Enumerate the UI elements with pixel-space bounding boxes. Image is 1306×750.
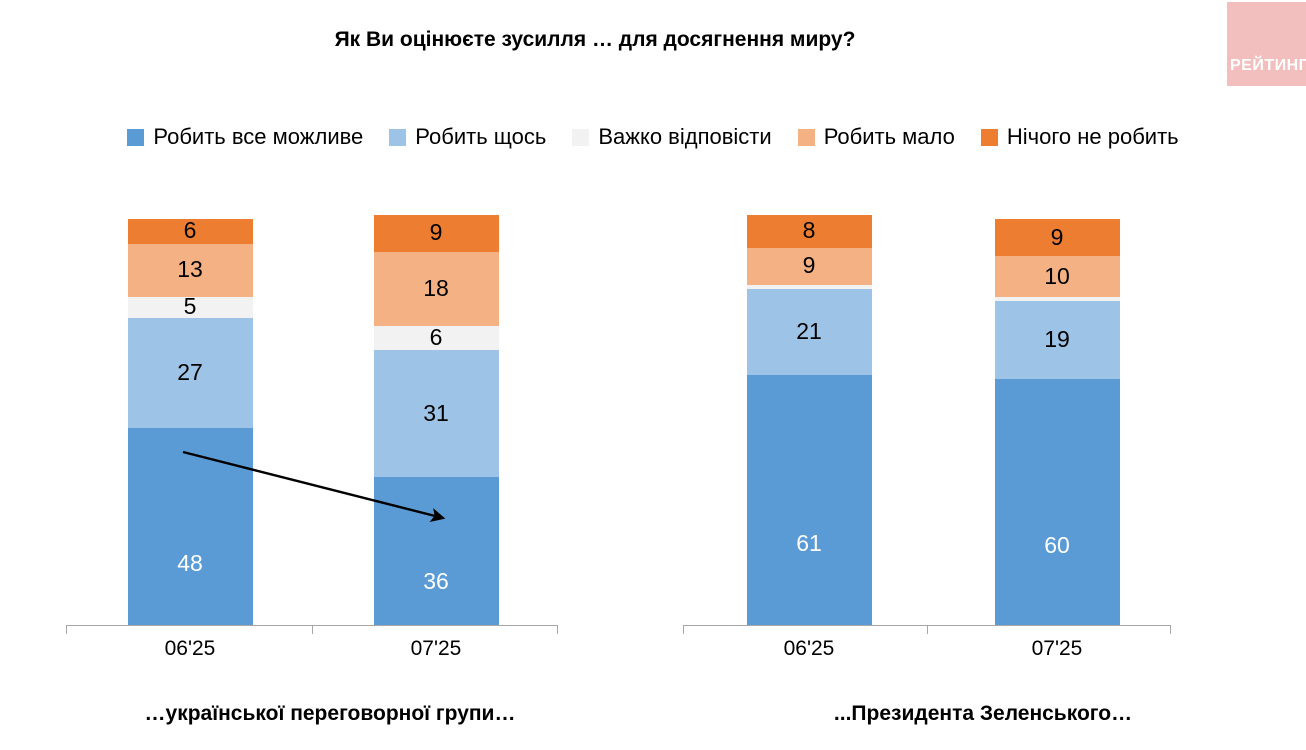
bar-segment-value-label: 48	[128, 552, 253, 575]
panel-caption-right: ...Президента Зеленського…	[660, 702, 1306, 726]
x-axis-category-label: 07'25	[997, 637, 1117, 661]
x-axis-category-label: 07'25	[376, 637, 496, 661]
bar-segment-value-label: 19	[995, 328, 1120, 351]
bar-segment[interactable]: 18	[374, 252, 499, 326]
bar-segment-value-label: 13	[128, 258, 253, 281]
stacked-bar[interactable]: 8912161	[747, 215, 872, 625]
bar-segment[interactable]: 9	[374, 215, 499, 252]
bar-segment[interactable]: 36	[374, 477, 499, 625]
x-axis-tick	[66, 625, 67, 634]
bar-segment[interactable]: 27	[128, 318, 253, 429]
stacked-bar[interactable]: 91011960	[995, 219, 1120, 625]
bar-segment[interactable]: 48	[128, 428, 253, 625]
bar-segment[interactable]: 6	[128, 219, 253, 244]
x-axis-category-label: 06'25	[749, 637, 869, 661]
bar-segment[interactable]: 31	[374, 350, 499, 477]
bar-segment-value-label: 9	[374, 221, 499, 244]
bar-segment[interactable]: 9	[995, 219, 1120, 256]
x-axis-tick	[312, 625, 313, 634]
chart-panel-left: 6135274806'259186313607'25 …української …	[0, 0, 660, 750]
bar-segment[interactable]: 21	[747, 289, 872, 375]
bar-segment[interactable]: 19	[995, 301, 1120, 379]
bar-segment-value-label: 10	[995, 265, 1120, 288]
bar-segment-value-label: 6	[374, 326, 499, 349]
bar-segment-value-label: 60	[995, 534, 1120, 557]
bar-segment[interactable]: 13	[128, 244, 253, 297]
stacked-bar[interactable]: 91863136	[374, 215, 499, 625]
panel-caption-left: …української переговорної групи…	[0, 702, 660, 726]
x-axis-tick	[683, 625, 684, 634]
bar-segment-value-label: 9	[995, 226, 1120, 249]
stacked-bar[interactable]: 61352748	[128, 219, 253, 625]
bar-segment-value-label: 61	[747, 532, 872, 555]
bar-segment-value-label: 31	[374, 402, 499, 425]
bar-segment-value-label: 36	[374, 570, 499, 593]
x-axis-tick	[927, 625, 928, 634]
bar-segment[interactable]: 61	[747, 375, 872, 625]
x-axis-category-label: 06'25	[130, 637, 250, 661]
bar-segment[interactable]: 60	[995, 379, 1120, 625]
bar-segment[interactable]: 9	[747, 248, 872, 285]
bar-segment[interactable]: 5	[128, 297, 253, 318]
bar-segment-value-label: 9	[747, 254, 872, 277]
chart-panel-right: 891216106'259101196007'25 ...Президента …	[660, 0, 1306, 750]
plot-area-left: 6135274806'259186313607'25	[0, 0, 660, 750]
bar-segment[interactable]: 10	[995, 256, 1120, 297]
plot-area-right: 891216106'259101196007'25	[660, 0, 1306, 750]
bar-segment[interactable]: 6	[374, 326, 499, 351]
bar-segment-value-label: 21	[747, 320, 872, 343]
bar-segment-value-label: 6	[128, 219, 253, 242]
bar-segment-value-label: 5	[128, 295, 253, 318]
bar-segment-value-label: 27	[128, 361, 253, 384]
bar-segment-value-label: 8	[747, 219, 872, 242]
x-axis-tick	[1170, 625, 1171, 634]
x-axis-tick	[557, 625, 558, 634]
bar-segment[interactable]: 8	[747, 215, 872, 248]
bar-segment-value-label: 18	[374, 277, 499, 300]
